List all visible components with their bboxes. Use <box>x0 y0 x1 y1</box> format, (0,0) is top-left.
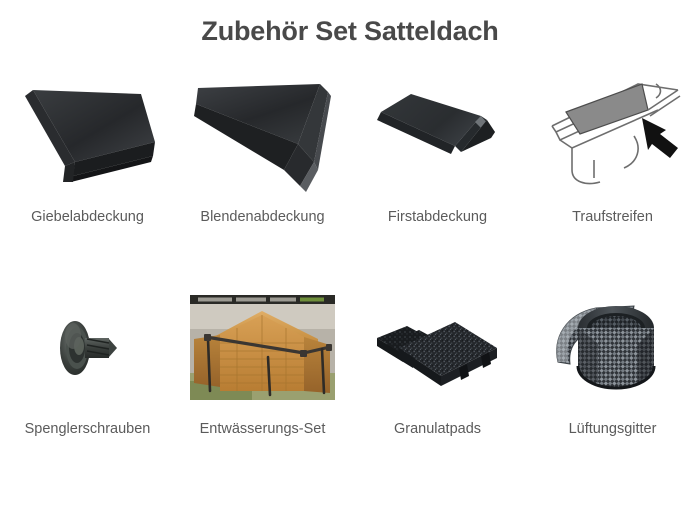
product-label: Spenglerschrauben <box>25 421 151 438</box>
ventilation-grille-icon <box>533 280 693 415</box>
product-label: Entwässerungs-Set <box>200 421 326 438</box>
gable-trim-icon <box>8 65 168 205</box>
product-label: Firstabdeckung <box>388 209 487 226</box>
product-item-traufstreifen[interactable]: Traufstreifen <box>525 65 700 280</box>
product-item-spenglerschrauben[interactable]: Spenglerschrauben <box>0 280 175 495</box>
product-grid: Giebelabdeckung <box>0 65 700 495</box>
product-item-entwaesserungs-set[interactable]: Entwässerungs-Set <box>175 280 350 495</box>
product-item-lueftungsgitter[interactable]: Lüftungsgitter <box>525 280 700 495</box>
product-label: Traufstreifen <box>572 209 653 226</box>
eaves-strip-diagram-icon <box>533 65 693 205</box>
product-item-blendenabdeckung[interactable]: Blendenabdeckung <box>175 65 350 280</box>
product-item-firstabdeckung[interactable]: Firstabdeckung <box>350 65 525 280</box>
product-label: Giebelabdeckung <box>31 209 144 226</box>
product-row: Spenglerschrauben <box>0 280 700 495</box>
ridge-cap-icon <box>358 65 518 205</box>
granulate-pads-icon <box>358 280 518 415</box>
drainage-set-photo-icon <box>183 280 343 415</box>
product-label: Lüftungsgitter <box>569 421 657 438</box>
roofing-screw-icon <box>8 280 168 415</box>
product-row: Giebelabdeckung <box>0 65 700 280</box>
fascia-trim-icon <box>183 65 343 205</box>
page-title: Zubehör Set Satteldach <box>0 0 700 47</box>
product-label: Granulatpads <box>394 421 481 438</box>
product-item-giebelabdeckung[interactable]: Giebelabdeckung <box>0 65 175 280</box>
product-label: Blendenabdeckung <box>200 209 324 226</box>
product-item-granulatpads[interactable]: Granulatpads <box>350 280 525 495</box>
accessory-set-page: Zubehör Set Satteldach <box>0 0 700 525</box>
